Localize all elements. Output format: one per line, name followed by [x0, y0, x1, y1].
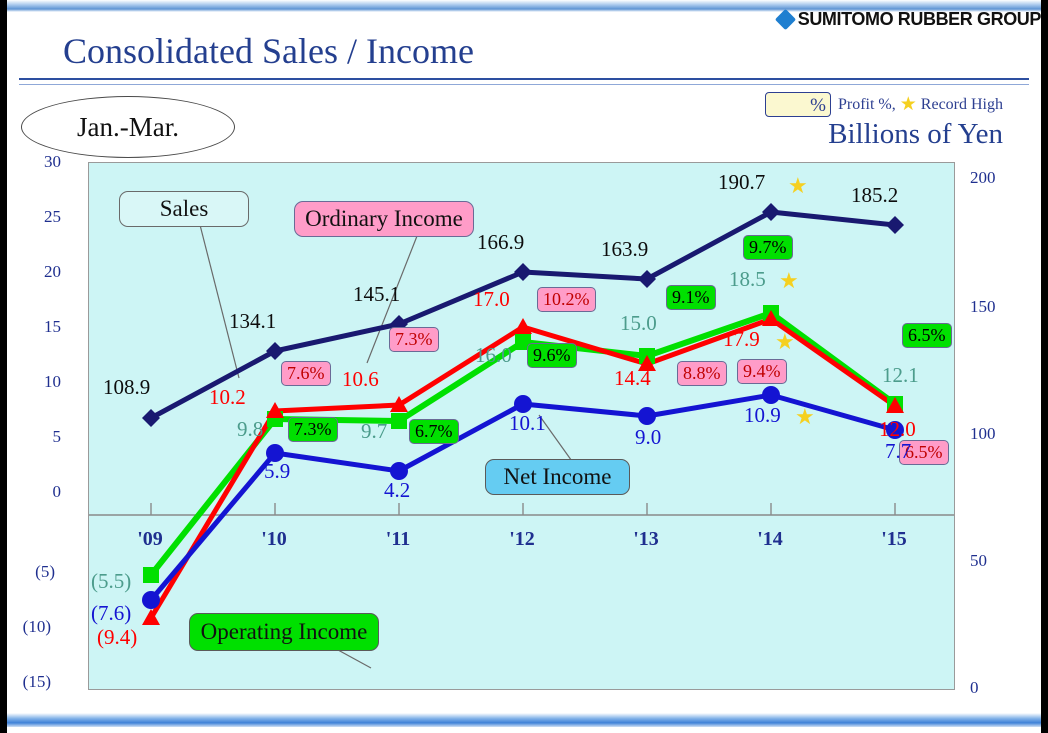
label-sales-13: 163.9 — [601, 237, 648, 262]
diamond-icon — [775, 9, 796, 30]
label-ordinary-12: 17.0 — [473, 287, 510, 312]
bottom-decorative-bar — [7, 713, 1041, 727]
label-sales-10: 134.1 — [229, 309, 276, 334]
label-sales-12: 166.9 — [477, 230, 524, 255]
legend-profit-label: Profit %, — [838, 96, 896, 114]
label-ordinary-11: 10.6 — [342, 367, 379, 392]
badge-ordinary-pct-10: 7.6% — [281, 361, 331, 386]
y-right-tick-50: 50 — [970, 551, 1030, 571]
y-left-tick-10: 10 — [11, 372, 61, 392]
callout-sales: Sales — [119, 191, 249, 227]
callout-ordinary-income: Ordinary Income — [294, 201, 474, 237]
label-operating-13: 15.0 — [620, 311, 657, 336]
label-ordinary-10: 10.2 — [209, 385, 246, 410]
star-icon-sales-14: ★ — [788, 173, 808, 199]
badge-ordinary-pct-11: 7.3% — [389, 327, 439, 352]
x-tick-13: '13 — [606, 528, 686, 551]
y-left-tick-20: 20 — [11, 262, 61, 282]
label-net-13: 9.0 — [635, 425, 661, 450]
title-divider — [19, 78, 1029, 85]
badge-ordinary-pct-14: 9.4% — [737, 359, 787, 384]
badge-operating-pct-10: 7.3% — [288, 417, 338, 442]
x-tick-15: '15 — [854, 528, 934, 551]
x-tick-12: '12 — [482, 528, 562, 551]
label-ordinary-13: 14.4 — [614, 366, 651, 391]
badge-operating-pct-14: 9.7% — [743, 235, 793, 260]
label-net-09: (7.6) — [91, 601, 131, 626]
y-left-tick-0: 0 — [11, 482, 61, 502]
badge-operating-pct-11: 6.7% — [409, 419, 459, 444]
label-net-14: 10.9 — [744, 403, 781, 428]
label-sales-09: 108.9 — [103, 375, 150, 400]
badge-ordinary-pct-13: 8.8% — [677, 361, 727, 386]
badge-operating-pct-12: 9.6% — [527, 343, 577, 368]
period-badge: Jan.-Mar. — [21, 96, 235, 158]
label-net-11: 4.2 — [384, 478, 410, 503]
callout-net-income: Net Income — [485, 459, 630, 495]
label-operating-14: 18.5 — [729, 267, 766, 292]
y-right-tick-200: 200 — [970, 168, 1030, 188]
slide-root: SUMITOMO RUBBER GROUP Consolidated Sales… — [0, 0, 1048, 733]
label-operating-11: 9.7 — [361, 419, 387, 444]
label-net-10: 5.9 — [264, 459, 290, 484]
x-tick-11: '11 — [358, 528, 438, 551]
brand-name: SUMITOMO RUBBER GROUP — [798, 9, 1041, 30]
star-icon-net-14: ★ — [795, 404, 815, 430]
units-label: Billions of Yen — [828, 118, 1003, 151]
legend-text: Profit %, ★ Record High — [838, 93, 1003, 116]
callout-operating-income: Operating Income — [189, 613, 379, 651]
label-operating-10: 9.8 — [237, 417, 263, 442]
y-left-tick-5: 5 — [11, 427, 61, 447]
y-right-tick-100: 100 — [970, 424, 1030, 444]
star-icon: ★ — [900, 93, 917, 116]
star-icon-operating-14: ★ — [779, 268, 799, 294]
label-ordinary-09: (9.4) — [97, 625, 137, 650]
y-right-tick-0: 0 — [970, 678, 1030, 698]
y-left-tick-15: 15 — [11, 317, 61, 337]
label-sales-15: 185.2 — [851, 183, 898, 208]
legend-record-label: Record High — [921, 96, 1003, 114]
chart-plot-area: Sales Ordinary Income Operating Income N… — [88, 162, 955, 690]
x-tick-10: '10 — [234, 528, 314, 551]
x-tick-marks — [151, 503, 895, 515]
label-sales-11: 145.1 — [353, 282, 400, 307]
x-tick-14: '14 — [730, 528, 810, 551]
x-tick-09: '09 — [110, 528, 190, 551]
y-right-tick-150: 150 — [970, 297, 1030, 317]
label-net-12: 10.1 — [509, 411, 546, 436]
y-left-tick-30: 30 — [11, 152, 61, 172]
legend: % Profit %, ★ Record High — [765, 92, 1003, 117]
badge-operating-pct-13: 9.1% — [666, 285, 716, 310]
label-operating-15: 12.1 — [882, 363, 919, 388]
page-title: Consolidated Sales / Income — [63, 30, 474, 72]
y-left-tick-m15: (15) — [1, 672, 51, 692]
badge-ordinary-pct-12: 10.2% — [537, 287, 596, 312]
brand-logo: SUMITOMO RUBBER GROUP — [778, 9, 1041, 30]
percent-swatch: % — [765, 92, 831, 117]
y-left-tick-m10: (10) — [1, 617, 51, 637]
label-operating-12: 16.0 — [475, 343, 512, 368]
label-net-15: 7.7 — [885, 439, 911, 464]
y-left-tick-25: 25 — [11, 207, 61, 227]
label-sales-14: 190.7 — [718, 170, 765, 195]
label-ordinary-14: 17.9 — [723, 327, 760, 352]
badge-operating-pct-15: 6.5% — [902, 323, 952, 348]
percent-symbol: % — [810, 96, 826, 116]
label-operating-09: (5.5) — [91, 569, 131, 594]
y-left-tick-m5: (5) — [5, 562, 55, 582]
star-icon-ordinary-14: ★ — [775, 329, 795, 355]
